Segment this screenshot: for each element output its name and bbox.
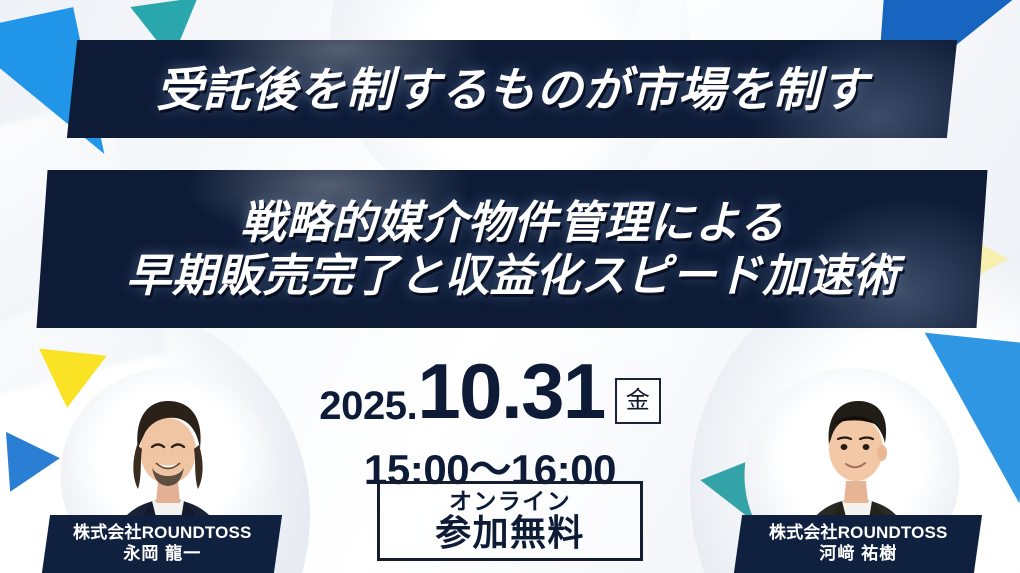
speaker-right-name: 河﨑 祐樹	[769, 544, 948, 566]
speaker-right-organization: 株式会社ROUNDTOSS	[769, 522, 948, 543]
speaker-left-name: 永岡 龍一	[73, 544, 252, 566]
event-price-label: 参加無料	[435, 514, 585, 553]
event-datetime: 2025. 10.31 金 15:00〜16:00	[255, 352, 725, 497]
webinar-banner: 受託後を制するものが市場を制す 戦略的媒介物件管理による 早期販売完了と収益化ス…	[0, 0, 1020, 573]
event-format-badge: オンライン 参加無料	[377, 481, 643, 561]
event-year: 2025.	[319, 386, 417, 430]
event-month-day: 10.31	[417, 352, 604, 430]
event-format-label: オンライン	[449, 489, 571, 513]
event-day-of-week-badge: 金	[615, 378, 661, 424]
speaker-left-nameplate: 株式会社ROUNDTOSS 永岡 龍一	[42, 515, 282, 573]
event-date-row: 2025. 10.31 金	[255, 352, 725, 430]
headline-primary-text: 受託後を制するものが市場を制す	[156, 66, 868, 113]
speaker-left-organization: 株式会社ROUNDTOSS	[73, 522, 252, 543]
headline-secondary-line-1: 戦略的媒介物件管理による	[126, 196, 899, 249]
headline-bar-secondary: 戦略的媒介物件管理による 早期販売完了と収益化スピード加速術	[36, 170, 987, 328]
triangle-bottom-left-blue-icon	[6, 428, 62, 491]
speaker-right-nameplate: 株式会社ROUNDTOSS 河﨑 祐樹	[734, 515, 982, 573]
headline-secondary-line-2: 早期販売完了と収益化スピード加速術	[126, 249, 899, 302]
headline-bar-primary: 受託後を制するものが市場を制す	[67, 40, 957, 138]
